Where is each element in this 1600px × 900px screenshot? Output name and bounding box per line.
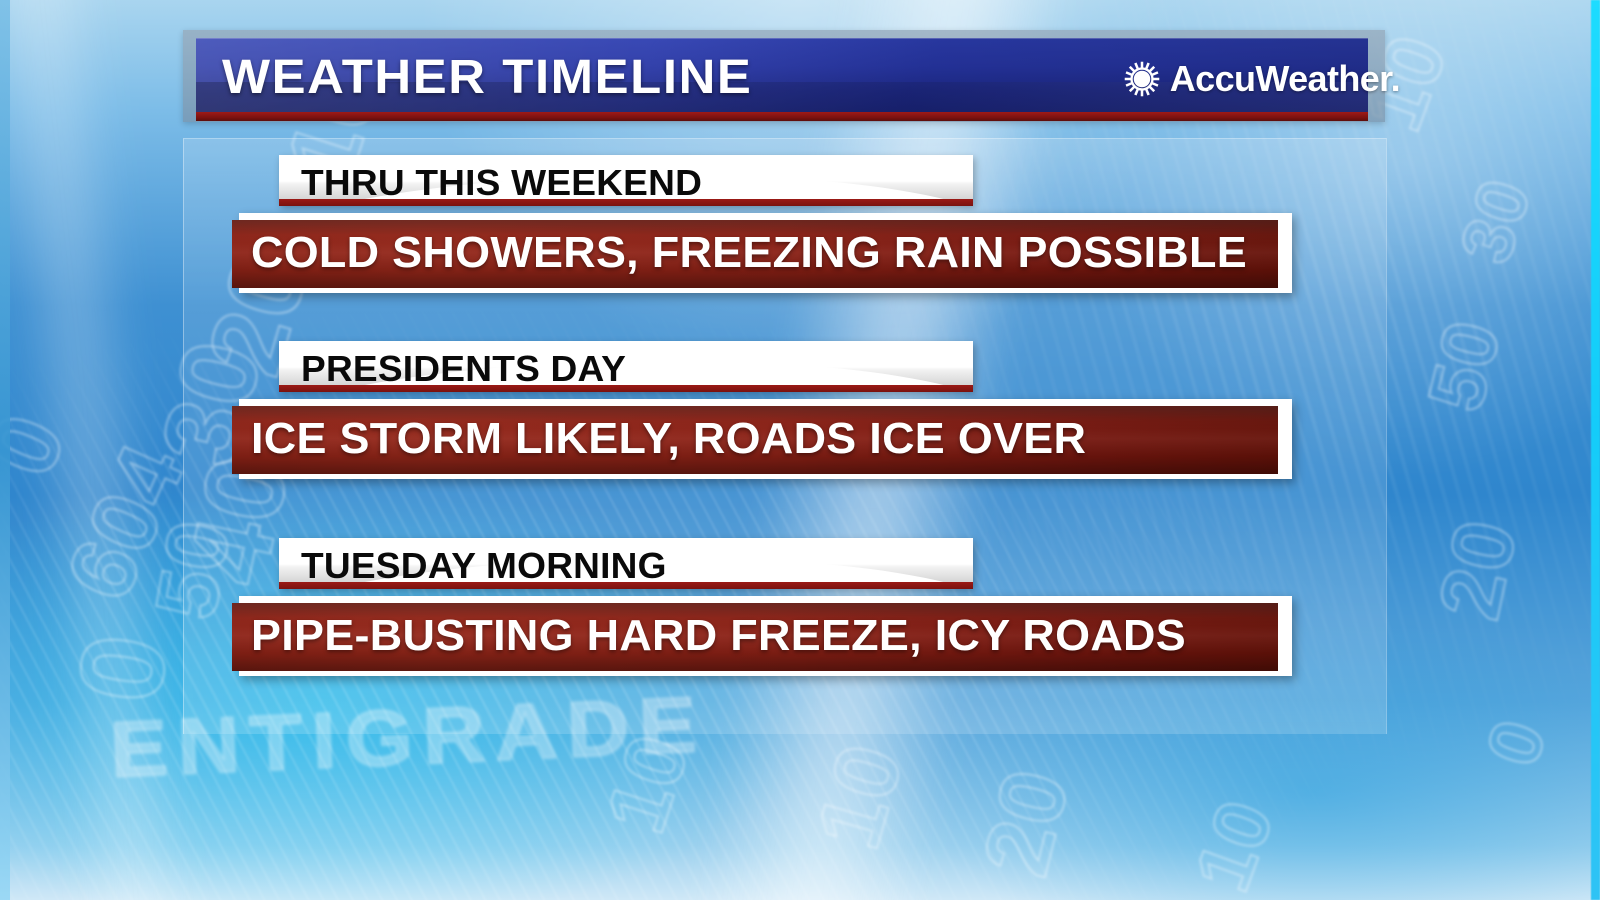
header-underline (196, 112, 1368, 121)
headline-text-1: COLD SHOWERS, FREEZING RAIN POSSIBLE (251, 228, 1247, 278)
background-right-accent-stripe (1591, 0, 1600, 900)
accuweather-wordmark: AccuWeather. (1170, 58, 1400, 100)
period-label-1: THRU THIS WEEKEND (301, 162, 702, 204)
page-title: WEATHER TIMELINE (222, 50, 752, 105)
headline-text-2: ICE STORM LIKELY, ROADS ICE OVER (251, 414, 1086, 464)
weather-timeline-graphic: 10 20 30 40 50 604 0 0 10 30 50 20 10 10… (0, 0, 1600, 900)
period-label-3: TUESDAY MORNING (301, 545, 667, 587)
sun-icon (1124, 61, 1160, 97)
period-label-2: PRESIDENTS DAY (301, 348, 626, 390)
headline-text-3: PIPE-BUSTING HARD FREEZE, ICY ROADS (251, 611, 1186, 661)
background-left-edge (0, 0, 10, 900)
accuweather-logo: AccuWeather. (1124, 58, 1400, 100)
